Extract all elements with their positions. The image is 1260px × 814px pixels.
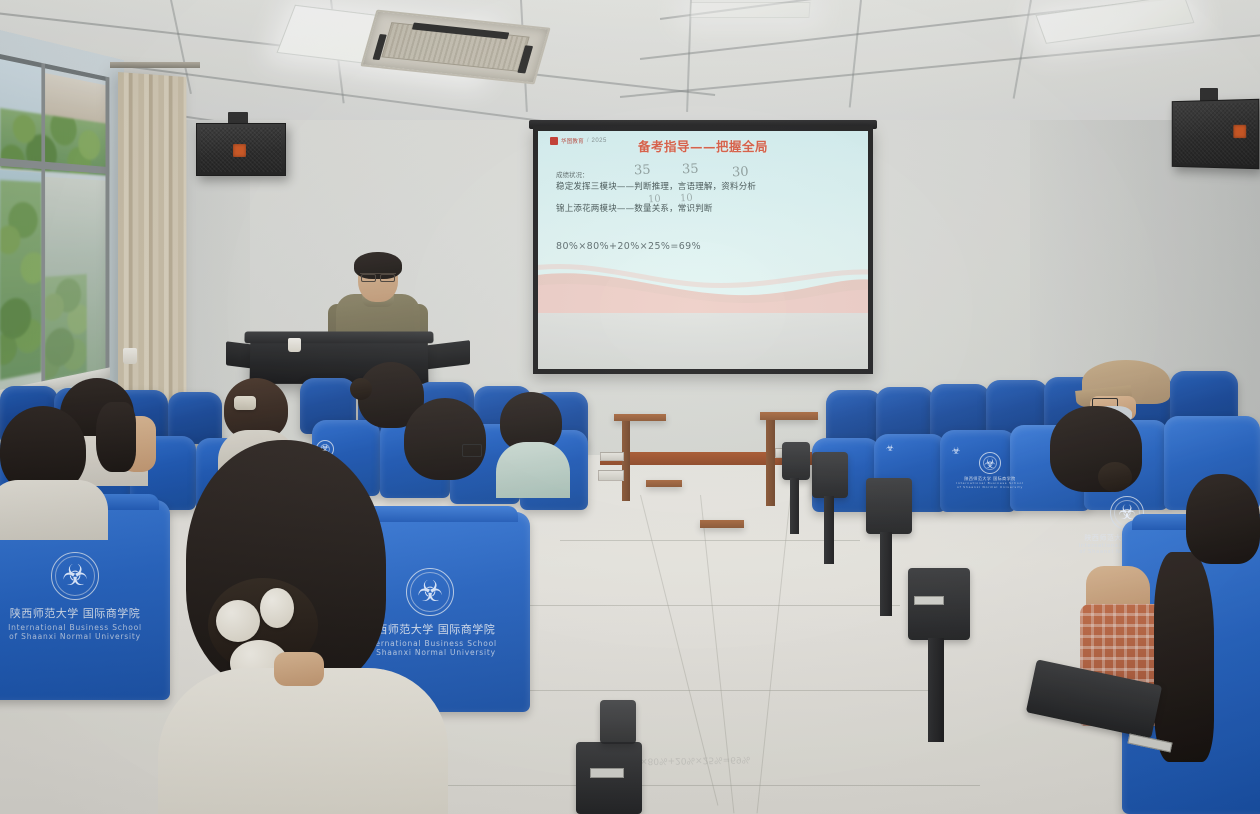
- student-top: [158, 668, 448, 814]
- slide-status-label: 成绩状况：: [556, 169, 856, 179]
- ceiling-light-panel: [1035, 0, 1194, 44]
- paper-cup: [123, 348, 137, 364]
- ceiling-light-panel: [689, 2, 810, 18]
- desk: [700, 520, 744, 528]
- curtain-rod: [110, 62, 200, 68]
- speaker-brand-logo: [233, 144, 246, 157]
- ceiling: [0, 0, 1260, 120]
- seat-armrest: [812, 452, 848, 498]
- slide-line-stable: 稳定发挥三模块——判断推理，言语理解，资料分析: [556, 180, 856, 192]
- desk-leg: [622, 421, 630, 501]
- slide-title: 备考指导——把握全局: [538, 136, 868, 155]
- armrest-post: [790, 478, 799, 534]
- speaker-brand-logo: [1233, 125, 1246, 138]
- desk: [760, 412, 818, 420]
- lecture-hall-photo: 华图教育 / 2025 备考指导——把握全局 成绩状况： 稳定发挥三模块——判断…: [0, 0, 1260, 814]
- slide-body: 成绩状况： 稳定发挥三模块——判断推理，言语理解，资料分析 锦上添花两模块——数…: [556, 169, 856, 224]
- window-wall-left: [0, 30, 124, 420]
- seat-armrest: [782, 442, 810, 480]
- hair-scrunchie: [260, 588, 294, 628]
- foreground-student: [168, 440, 408, 814]
- screen-blank-area: [538, 313, 868, 369]
- seat-armrest: [600, 700, 636, 744]
- handwritten-score-2: 35: [682, 162, 699, 178]
- handwritten-score-1: 35: [634, 163, 651, 179]
- armrest-post: [880, 532, 892, 616]
- water-cup-on-lectern: [288, 338, 301, 352]
- desk: [646, 480, 682, 487]
- armrest-post: [824, 496, 834, 564]
- wall-speaker-right: [1172, 99, 1260, 170]
- slide-formula: 80%×80%+20%×25%=69%: [556, 241, 701, 252]
- armrest-post: [928, 638, 944, 742]
- slide-line-bonus: 锦上添花两模块——数量关系，常识判断: [556, 202, 856, 214]
- seat-armrest: [866, 478, 912, 534]
- seat-armrest: [576, 742, 642, 814]
- window-curtain[interactable]: [118, 72, 186, 417]
- projection-screen: 华图教育 / 2025 备考指导——把握全局 成绩状况： 稳定发挥三模块——判断…: [533, 126, 873, 374]
- wall-speaker-left: [196, 123, 286, 176]
- desk: [614, 414, 666, 421]
- desk-shelf: [600, 452, 624, 461]
- hair-scrunchie: [216, 600, 260, 642]
- armrest-label: [914, 596, 944, 605]
- desk-leg: [766, 420, 775, 506]
- hair-clip: [234, 396, 256, 410]
- armrest-label: [590, 768, 624, 778]
- handwritten-score-4: 10: [648, 194, 661, 206]
- desk-shelf: [598, 470, 624, 481]
- glasses-icon: [360, 273, 396, 279]
- seat[interactable]: [940, 430, 1016, 512]
- handwritten-score-5: 10: [680, 193, 693, 205]
- handwritten-score-3: 30: [732, 165, 749, 181]
- presentation-slide: 华图教育 / 2025 备考指导——把握全局 成绩状况： 稳定发挥三模块——判断…: [538, 131, 868, 323]
- glasses-icon: [462, 444, 482, 457]
